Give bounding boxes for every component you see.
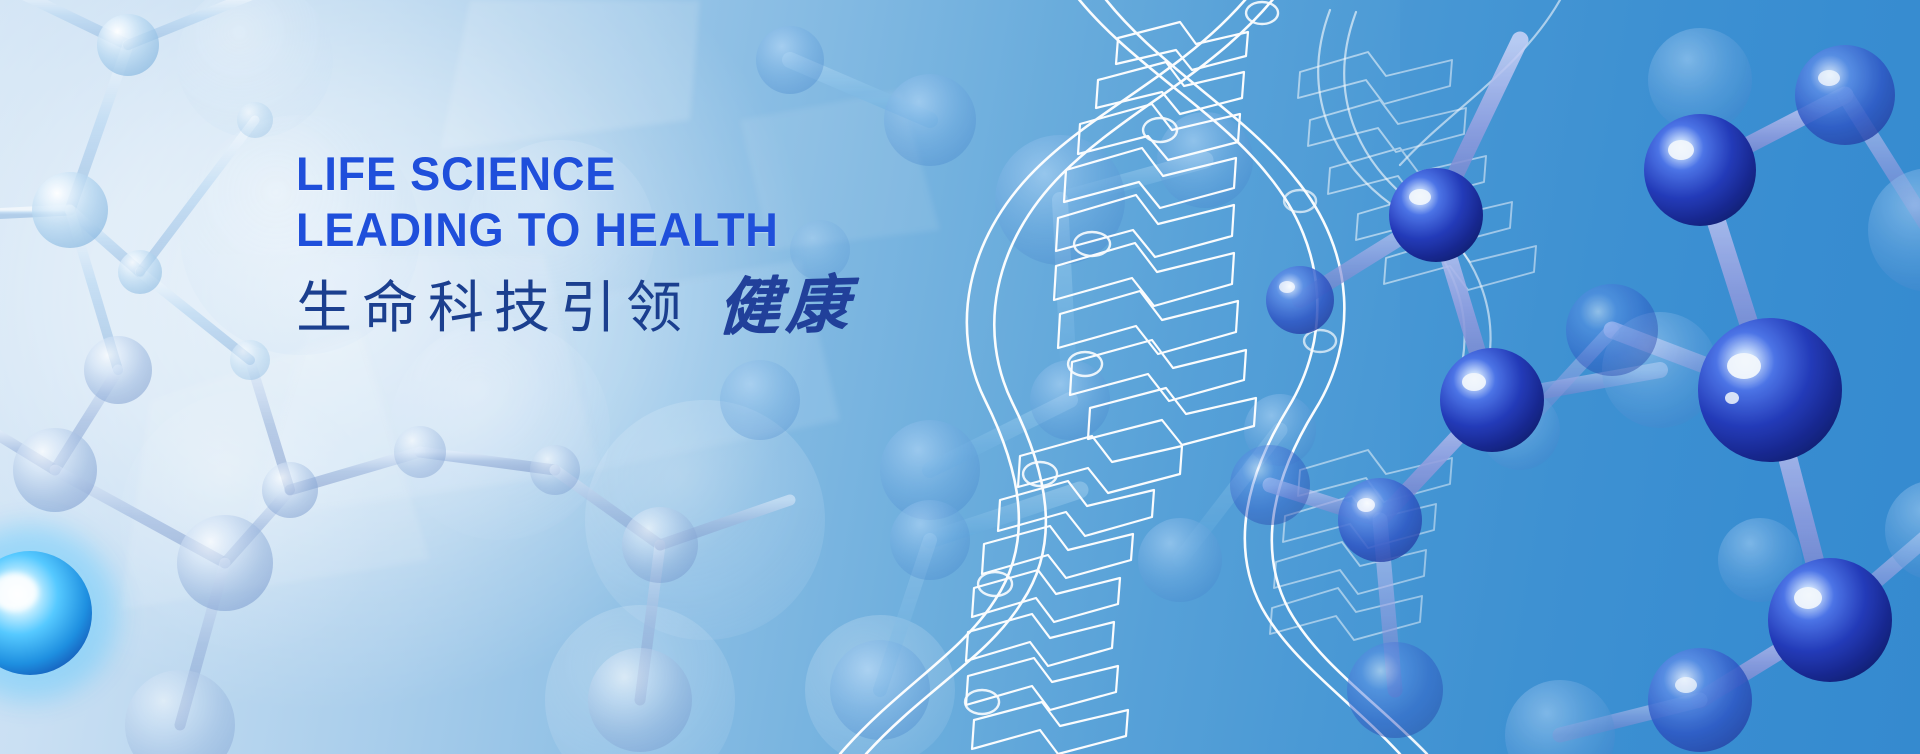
glow-sphere-bottom-left [0, 525, 118, 701]
headline-chinese-line: 生命科技 引领 健康 [296, 274, 854, 341]
headline-english-line-2: LEADING TO HEALTH [296, 202, 832, 258]
background-graphics-layer [0, 0, 1920, 754]
headline-block: LIFE SCIENCE LEADING TO HEALTH 生命科技 引领 健… [296, 146, 854, 341]
headline-chinese-main: 生命科技 [296, 277, 560, 341]
life-science-banner: LIFE SCIENCE LEADING TO HEALTH 生命科技 引领 健… [0, 0, 1920, 754]
headline-chinese-brush: 健康 [716, 272, 855, 340]
headline-english-line-1: LIFE SCIENCE [296, 146, 832, 202]
headline-chinese-verb: 引领 [560, 277, 692, 341]
